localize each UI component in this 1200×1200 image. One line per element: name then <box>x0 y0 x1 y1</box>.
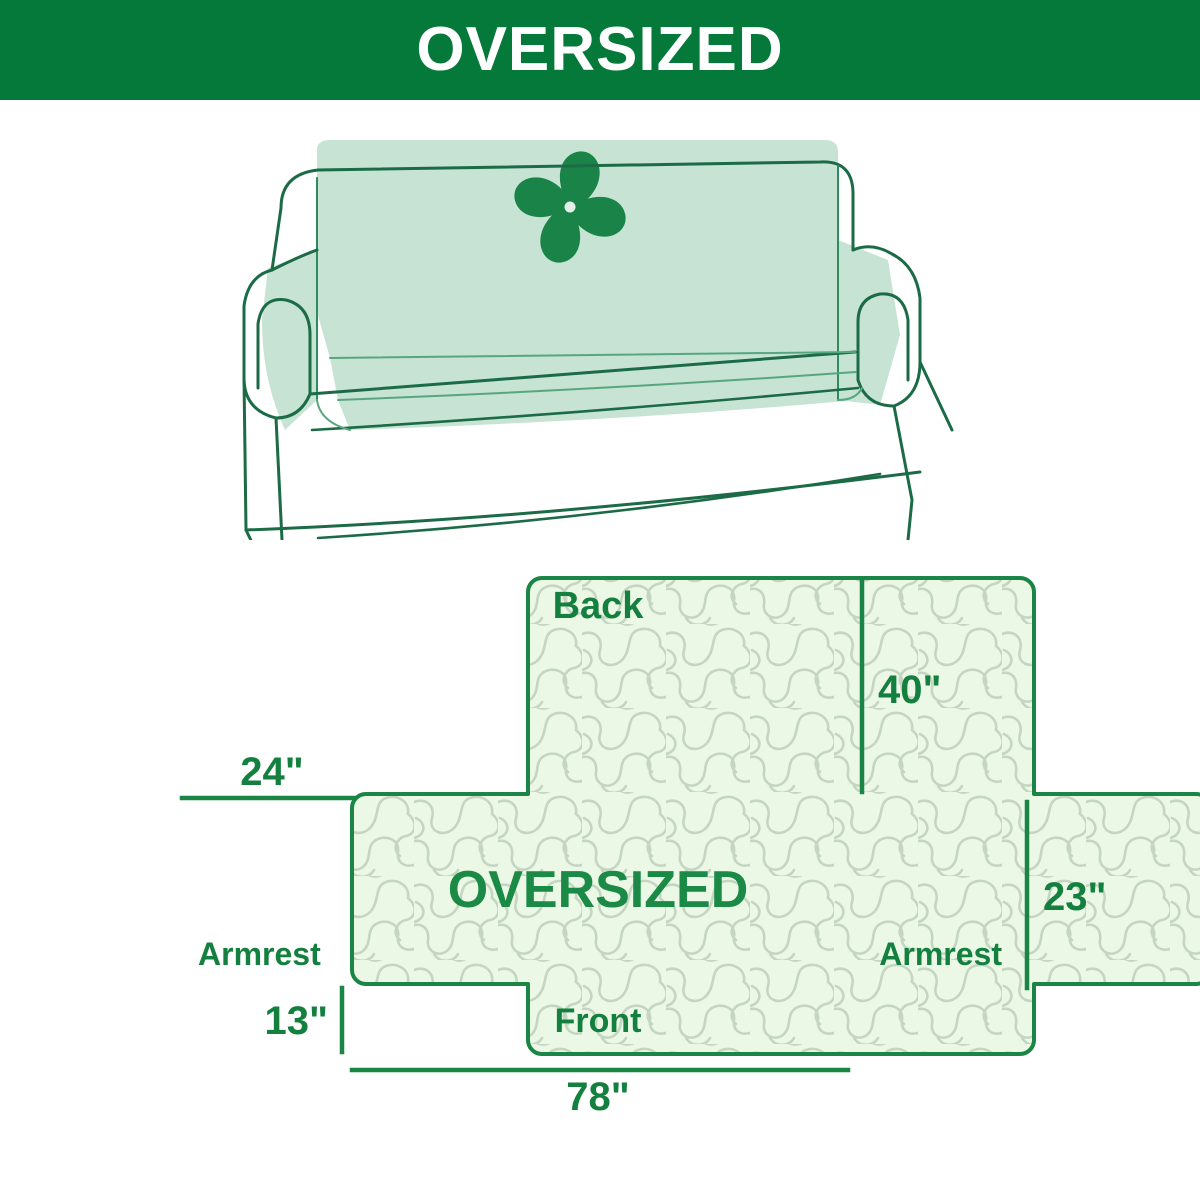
size-diagram: Back OVERSIZED Armrest Armrest Front 40"… <box>0 540 1200 1200</box>
dimension-label-front-drop: 13" <box>265 999 328 1043</box>
dimension-label-armrest-depth: 24" <box>240 750 303 794</box>
cover-shape <box>352 578 1200 1054</box>
sofa-illustration <box>0 100 1200 540</box>
panel-label-front: Front <box>555 1002 642 1040</box>
sofa-drawing <box>0 100 1200 540</box>
dimension-label-total-width: 78" <box>566 1075 629 1119</box>
page-title: OVERSIZED <box>416 19 783 81</box>
header-banner: OVERSIZED <box>0 0 1200 100</box>
dimension-label-armrest-height: 23" <box>1043 875 1106 919</box>
panel-label-back: Back <box>553 585 645 627</box>
panel-label-armrest-right: Armrest <box>879 936 1002 972</box>
dimension-label-back-height: 40" <box>878 668 941 712</box>
center-label-oversized: OVERSIZED <box>448 861 749 919</box>
cover-layout-diagram: Back OVERSIZED Armrest Armrest Front 40"… <box>0 540 1200 1200</box>
panel-label-armrest-left: Armrest <box>198 936 321 972</box>
